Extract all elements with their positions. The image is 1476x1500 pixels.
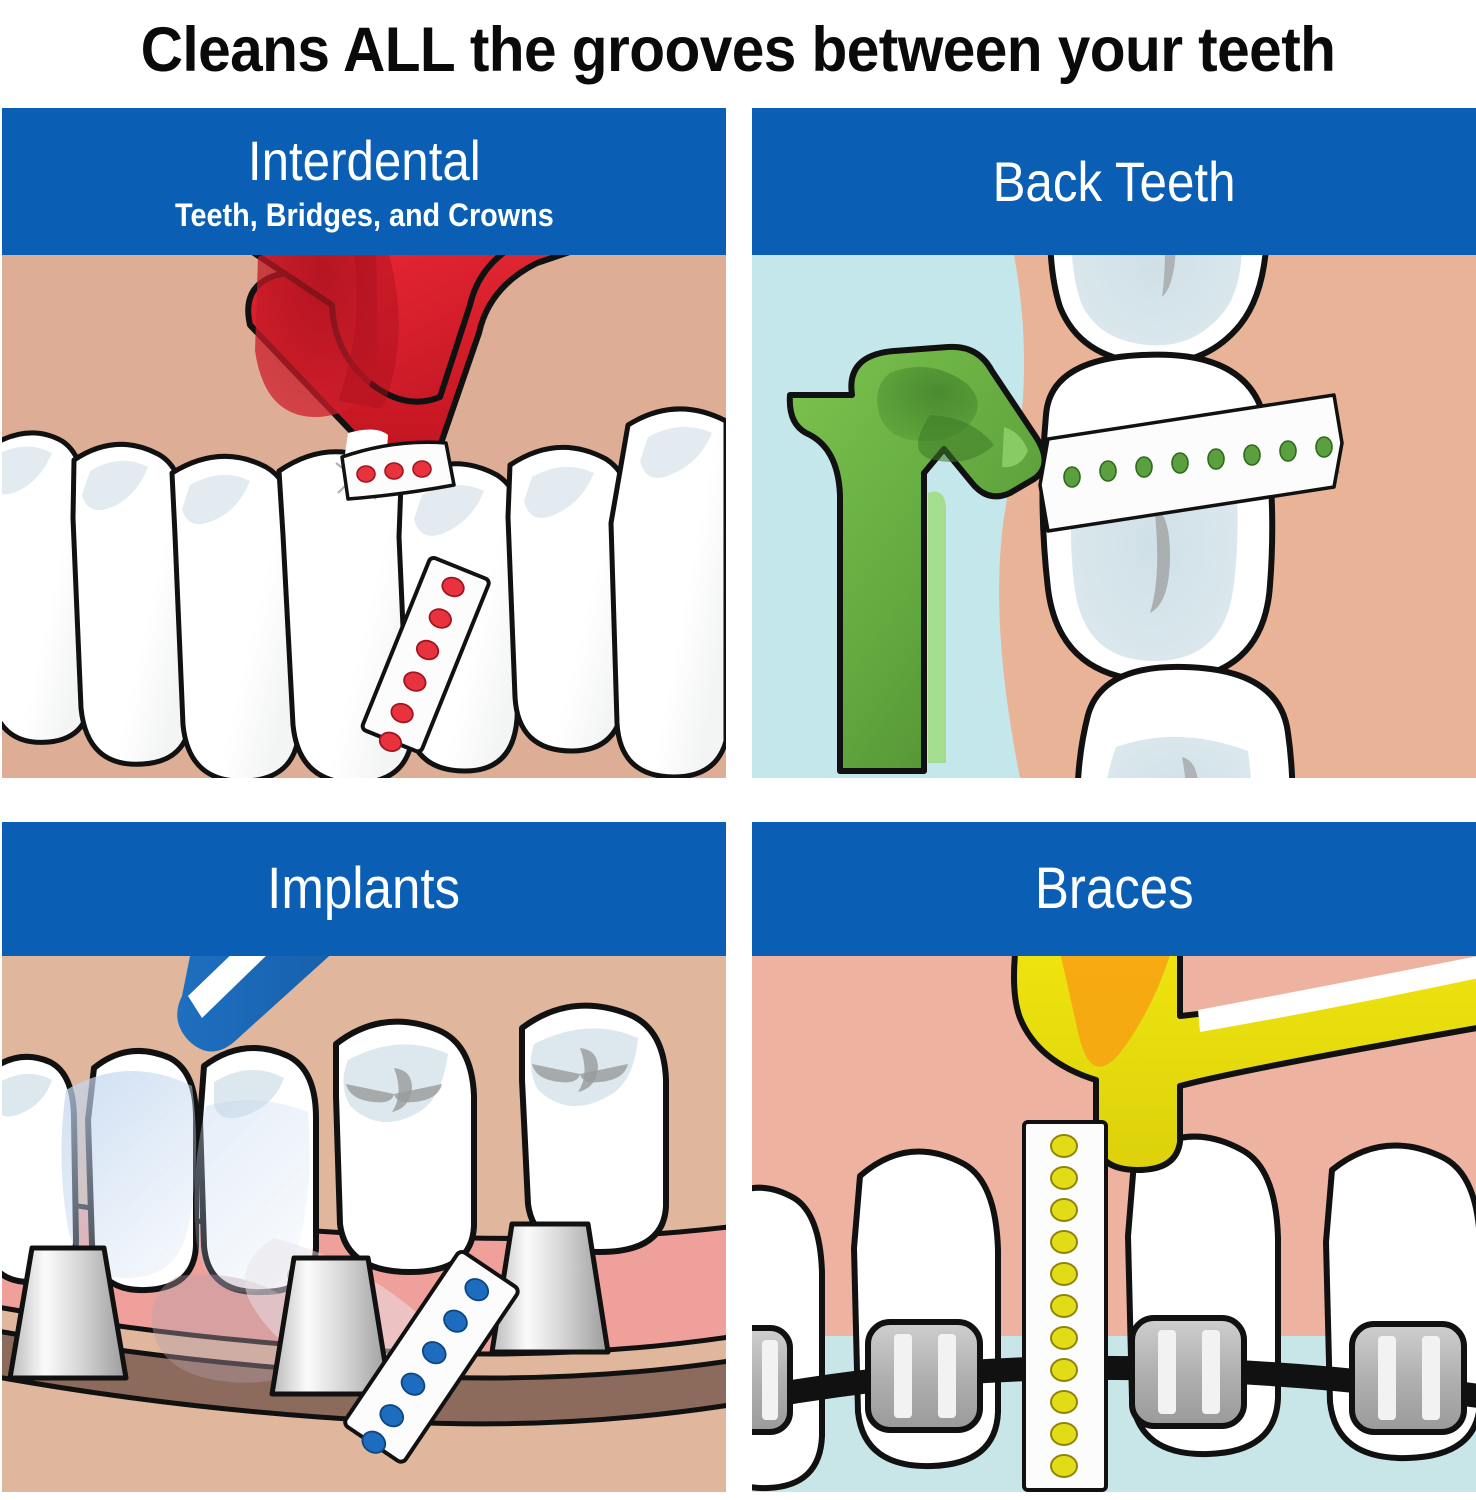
panel-interdental-banner: Interdental Teeth, Bridges, and Crowns (2, 108, 726, 255)
abutment-middle (272, 1258, 390, 1394)
bracket-2 (868, 1322, 980, 1430)
bracket-1 (752, 1328, 790, 1432)
brush-head-vertical (1024, 1122, 1106, 1490)
panel-implants-banner: Implants (2, 822, 726, 956)
abutment-left (10, 1248, 126, 1378)
panel-interdental: Interdental Teeth, Bridges, and Crowns (2, 108, 726, 778)
bracket-4 (1352, 1324, 1464, 1432)
panel-braces-banner: Braces (752, 822, 1476, 956)
panel-interdental-title: Interdental (248, 133, 481, 189)
page-title: Cleans ALL the grooves between your teet… (52, 0, 1425, 100)
illustration-back-teeth (752, 255, 1476, 778)
molar-bottom-partial (1077, 667, 1292, 778)
illustration-braces (752, 956, 1476, 1492)
panel-braces-title: Braces (1035, 860, 1194, 918)
brush-bristle-beads (1051, 1135, 1077, 1477)
handle-highlight (928, 492, 946, 763)
panel-implants: Implants (2, 822, 726, 1492)
panel-implants-title: Implants (268, 860, 461, 918)
panel-back-teeth-title: Back Teeth (993, 154, 1236, 210)
bracket-3 (1132, 1318, 1244, 1426)
infographic-root: Cleans ALL the grooves between your teet… (0, 0, 1476, 1500)
illustration-implants (2, 956, 726, 1492)
illustration-interdental (2, 255, 726, 778)
panel-braces: Braces (752, 822, 1476, 1492)
panel-back-teeth: Back Teeth (752, 108, 1476, 778)
panel-interdental-subtitle: Teeth, Bridges, and Crowns (175, 199, 554, 231)
panel-back-teeth-banner: Back Teeth (752, 108, 1476, 255)
